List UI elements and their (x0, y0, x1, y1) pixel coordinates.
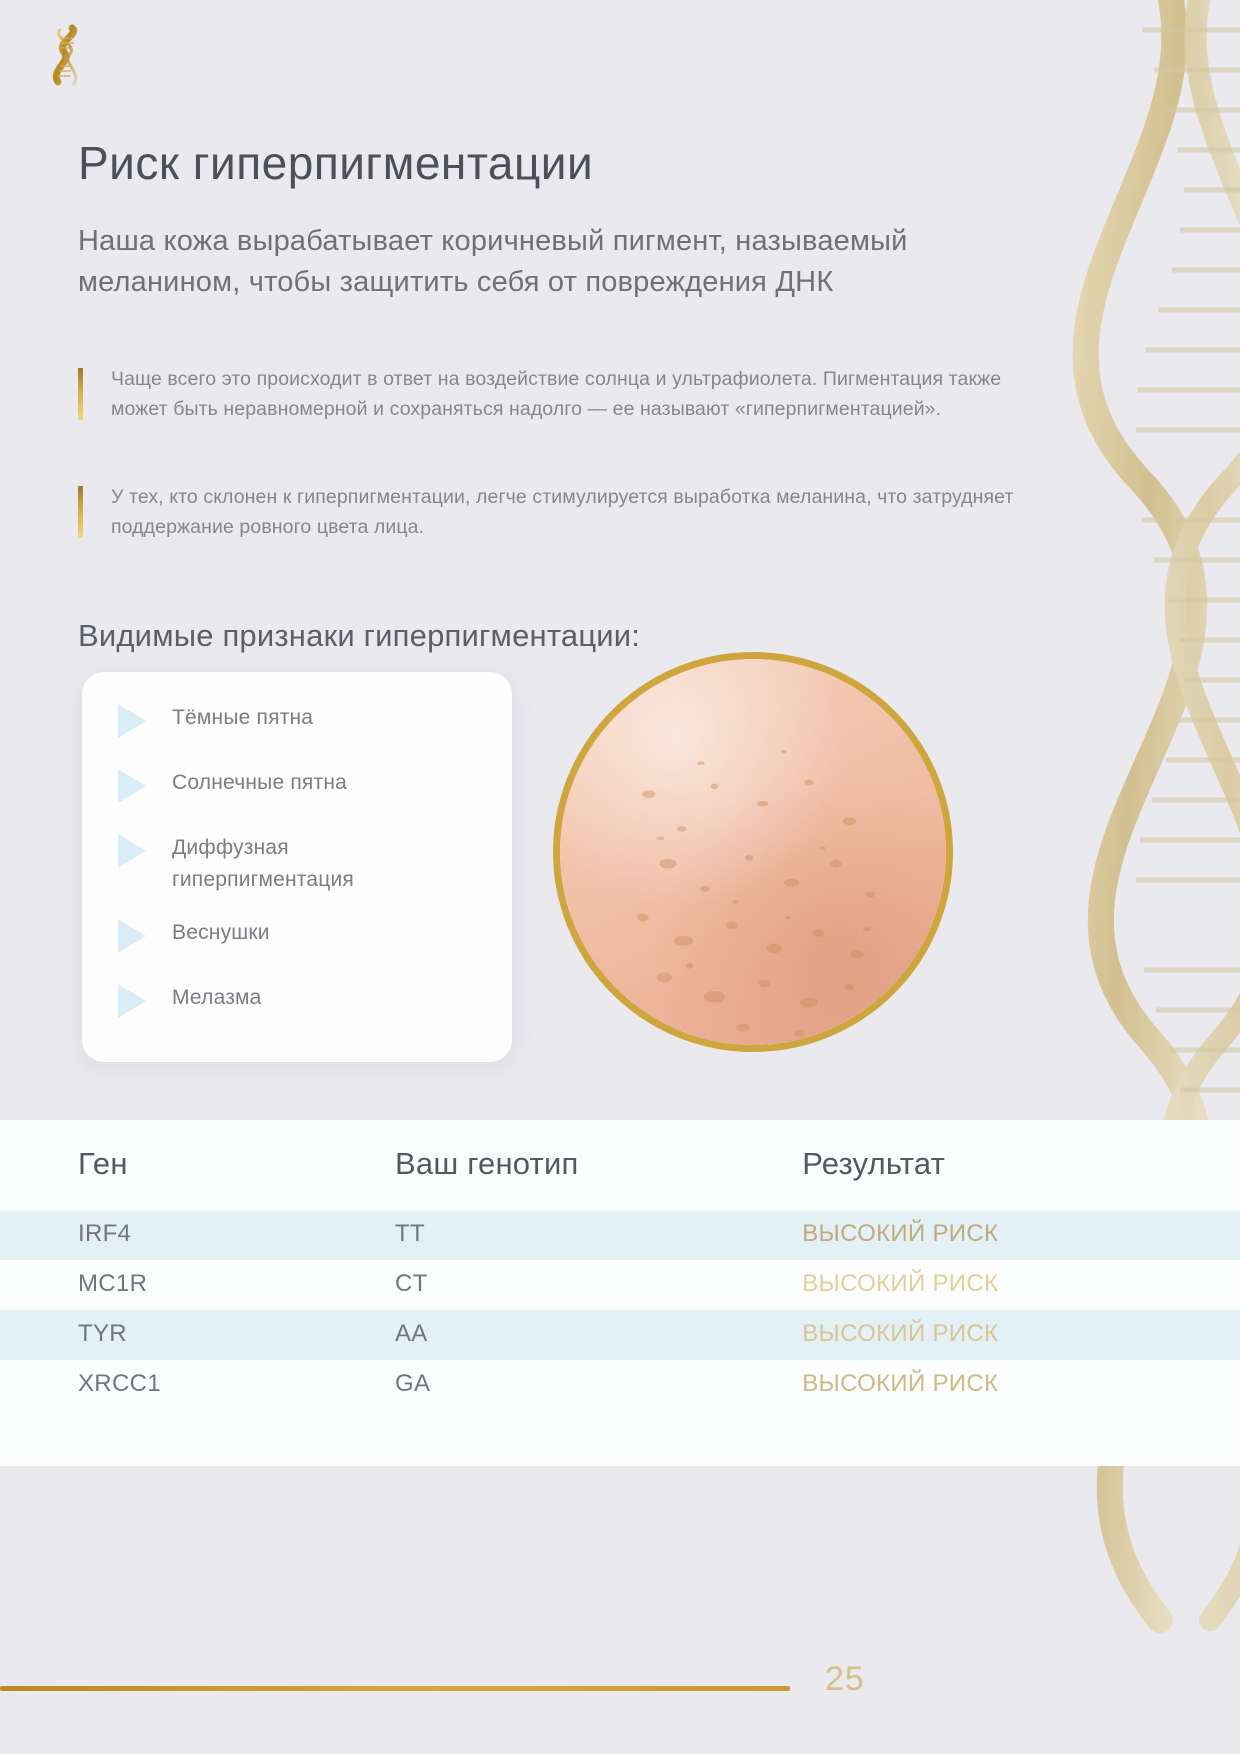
column-header-gene: Ген (0, 1120, 395, 1210)
status-badge: ВЫСОКИЙ РИСК (802, 1360, 1240, 1410)
list-item-label: Солнечные пятна (172, 767, 347, 799)
cell-genotype: TT (395, 1210, 802, 1260)
page-title: Риск гиперпигментации (78, 136, 593, 190)
table-row: IRF4 TT ВЫСОКИЙ РИСК (0, 1210, 1240, 1260)
status-badge: ВЫСОКИЙ РИСК (802, 1310, 1240, 1360)
table-bottom-spacer (0, 1410, 1240, 1466)
list-item: Солнечные пятна (82, 767, 512, 811)
cell-genotype: AA (395, 1310, 802, 1360)
list-item-label: Тёмные пятна (172, 702, 313, 734)
list-item-label: Диффузная гиперпигментация (172, 832, 354, 896)
status-badge: ВЫСОКИЙ РИСК (802, 1260, 1240, 1310)
quote-block: Чаще всего это происходит в ответ на воз… (78, 364, 1041, 424)
gene-results-table: Ген Ваш генотип Результат IRF4 TT ВЫСОКИ… (0, 1120, 1240, 1410)
list-item: Мелазма (82, 982, 512, 1026)
page-subtitle: Наша кожа вырабатывает коричневый пигмен… (78, 221, 958, 303)
cell-gene: MC1R (0, 1260, 395, 1310)
table-row: MC1R CT ВЫСОКИЙ РИСК (0, 1260, 1240, 1310)
footer-divider (0, 1686, 790, 1691)
gene-results-table-container: Ген Ваш генотип Результат IRF4 TT ВЫСОКИ… (0, 1120, 1240, 1466)
play-arrow-icon (118, 769, 146, 803)
visible-signs-heading: Видимые признаки гиперпигментации: (78, 618, 640, 654)
skin-closeup-photo (553, 652, 953, 1052)
cell-genotype: GA (395, 1360, 802, 1410)
cell-gene: IRF4 (0, 1210, 395, 1260)
list-item-label: Мелазма (172, 982, 262, 1014)
cell-gene: TYR (0, 1310, 395, 1360)
play-arrow-icon (118, 919, 146, 953)
cell-gene: XRCC1 (0, 1360, 395, 1410)
freckle-spots-overlay (560, 659, 946, 1045)
report-page: Риск гиперпигментации Наша кожа вырабаты… (0, 0, 1240, 1754)
list-item: Диффузная гиперпигментация (82, 832, 512, 896)
column-header-result: Результат (802, 1120, 1240, 1210)
play-arrow-icon (118, 834, 146, 868)
dna-helix-icon (40, 22, 94, 90)
table-header-row: Ген Ваш генотип Результат (0, 1120, 1240, 1210)
quote-block: У тех, кто склонен к гиперпигментации, л… (78, 482, 1041, 542)
play-arrow-icon (118, 984, 146, 1018)
status-badge: ВЫСОКИЙ РИСК (802, 1210, 1240, 1260)
play-arrow-icon (118, 704, 146, 738)
cell-genotype: CT (395, 1260, 802, 1310)
list-item: Веснушки (82, 917, 512, 961)
column-header-genotype: Ваш генотип (395, 1120, 802, 1210)
table-row: TYR AA ВЫСОКИЙ РИСК (0, 1310, 1240, 1360)
visible-signs-card: Тёмные пятна Солнечные пятна Диффузная г… (82, 672, 512, 1062)
page-number: 25 (825, 1660, 865, 1699)
list-item: Тёмные пятна (82, 702, 512, 746)
table-row: XRCC1 GA ВЫСОКИЙ РИСК (0, 1360, 1240, 1410)
list-item-label: Веснушки (172, 917, 270, 949)
